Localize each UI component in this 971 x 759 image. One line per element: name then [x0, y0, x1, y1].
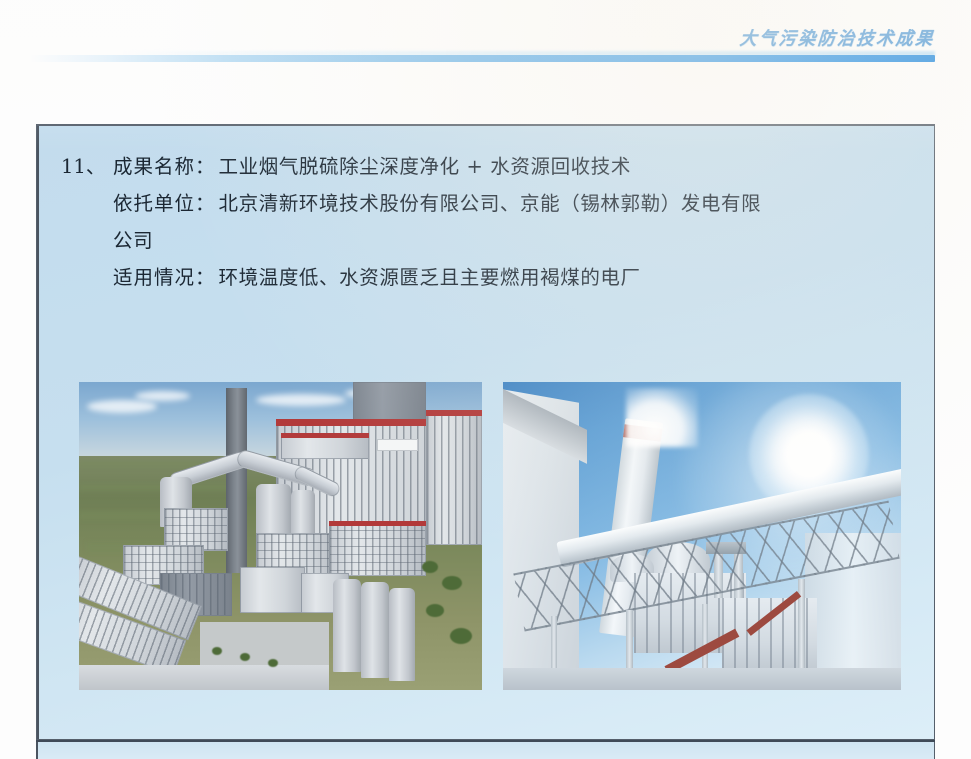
entry-row-organization-continued: 公司 — [61, 222, 913, 259]
entry-value-organization: 北京清新环境技术股份有限公司、京能（锡林郭勒）发电有限 — [219, 185, 913, 222]
entry-value-organization-continued: 公司 — [113, 222, 153, 259]
content-panel: 11、 成果名称 ： 工业烟气脱硫除尘深度净化 + 水资源回收技术 依托单位 ：… — [36, 124, 935, 740]
page-header: 大气污染防治技术成果 — [0, 0, 971, 70]
entry-value-application: 环境温度低、水资源匮乏且主要燃用褐煤的电厂 — [219, 259, 913, 296]
entry-colon-name: ： — [195, 148, 219, 185]
entry-label-organization: 依托单位 — [113, 185, 195, 222]
entry-row-application: 适用情况 ： 环境温度低、水资源匮乏且主要燃用褐煤的电厂 — [61, 259, 913, 296]
entry-label-application: 适用情况 — [113, 259, 195, 296]
header-rule — [30, 55, 935, 62]
entry-number: 11、 — [61, 148, 113, 185]
entry-colon-application: ： — [195, 259, 219, 296]
chimney-stack-photo — [503, 382, 901, 690]
next-entry-panel — [36, 742, 935, 759]
entry-row-name: 11、 成果名称 ： 工业烟气脱硫除尘深度净化 + 水资源回收技术 — [61, 148, 913, 185]
entry-value-name: 工业烟气脱硫除尘深度净化 + 水资源回收技术 — [219, 148, 913, 185]
power-plant-aerial-photo — [79, 382, 482, 690]
entry-colon-organization: ： — [195, 185, 219, 222]
panel-left-border — [37, 126, 39, 739]
document-page: 大气污染防治技术成果 11、 成果名称 ： 工业烟气脱硫除尘深度净化 + 水资源… — [0, 0, 971, 759]
page-header-title: 大气污染防治技术成果 — [739, 23, 936, 50]
entry-text-block: 11、 成果名称 ： 工业烟气脱硫除尘深度净化 + 水资源回收技术 依托单位 ：… — [61, 148, 913, 296]
entry-row-organization: 依托单位 ： 北京清新环境技术股份有限公司、京能（锡林郭勒）发电有限 — [61, 185, 913, 222]
entry-label-name: 成果名称 — [113, 148, 195, 185]
photo-row — [79, 382, 905, 692]
